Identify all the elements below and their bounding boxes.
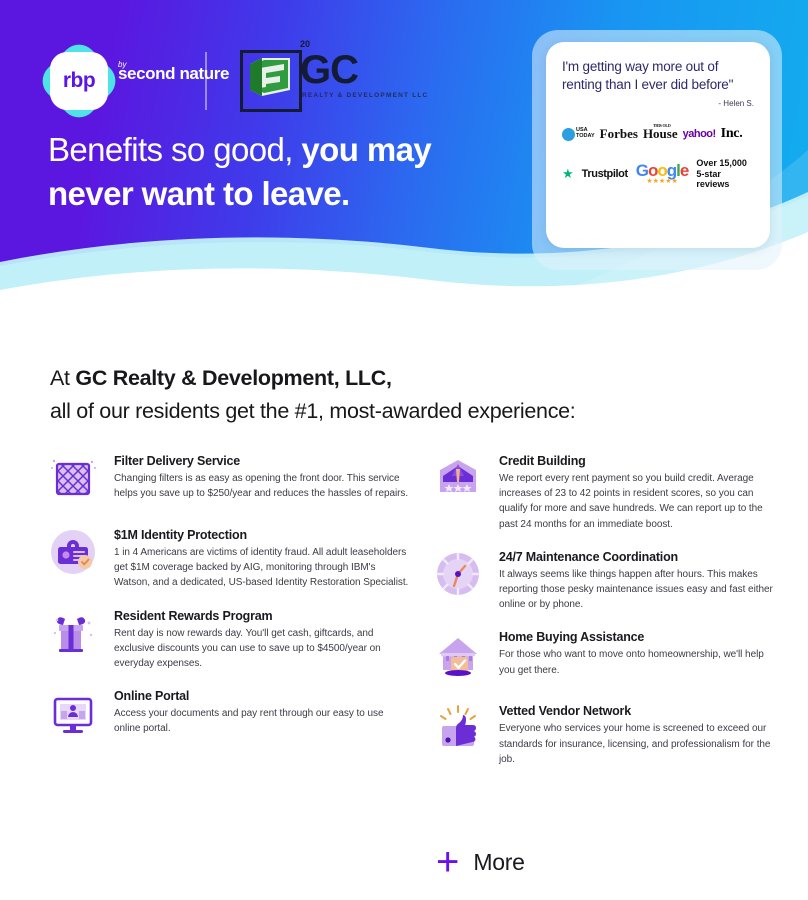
section-heading-line2: all of our residents get the #1, most-aw… <box>50 399 575 423</box>
benefit-description: Everyone who services your home is scree… <box>499 721 774 767</box>
benefit-title: 24/7 Maintenance Coordination <box>499 550 774 564</box>
benefit-item: Filter Delivery Service Changing filters… <box>44 452 409 510</box>
google-logo: Google ★★★★★ <box>636 162 689 185</box>
gc-logo-book-icon <box>248 56 292 98</box>
benefit-item: Credit Building We report every rent pay… <box>429 452 774 532</box>
benefit-icon-slot <box>44 526 102 584</box>
benefit-title: Filter Delivery Service <box>114 454 409 468</box>
benefit-icon-slot <box>44 687 102 745</box>
benefit-text: Vetted Vendor Network Everyone who servi… <box>499 702 774 767</box>
usa-today-logo: USA TODAY <box>576 128 595 140</box>
trustpilot-star-icon: ★ <box>562 166 574 182</box>
credit-badge-arrow-icon <box>432 452 484 504</box>
this-old-house-superscript: THIS OLD <box>653 123 671 128</box>
forbes-logo: Forbes <box>600 126 638 142</box>
benefit-item: $1M Identity Protection 1 in 4 Americans… <box>44 526 409 591</box>
benefit-item: 24/7 Maintenance Coordination It always … <box>429 548 774 613</box>
benefit-description: Changing filters is as easy as opening t… <box>114 471 409 501</box>
testimonial-quote: I'm getting way more out of renting than… <box>562 58 754 94</box>
headline-bold-part-2: never want to leave. <box>48 175 350 212</box>
benefit-text: 24/7 Maintenance Coordination It always … <box>499 548 774 613</box>
benefit-description: We report every rent payment so you buil… <box>499 471 774 532</box>
testimonial-author: - Helen S. <box>562 99 754 108</box>
benefit-item: Resident Rewards Program Rent day is now… <box>44 607 409 672</box>
benefit-title: $1M Identity Protection <box>114 528 409 542</box>
review-count: Over 15,000 5-star reviews <box>696 158 754 189</box>
gc-realty-logo: 20 GC REALTY & DEVELOPMENT LLC <box>240 42 440 114</box>
clock-icon <box>432 548 484 600</box>
benefit-icon-slot <box>429 548 487 606</box>
review-count-line2: 5-star reviews <box>696 169 754 190</box>
plus-icon: + <box>436 842 459 882</box>
benefit-text: Resident Rewards Program Rent day is now… <box>114 607 409 672</box>
headline-bold-part-1: you may <box>301 131 431 168</box>
gc-logo-subtitle: REALTY & DEVELOPMENT LLC <box>302 92 428 99</box>
benefits-column-right: Credit Building We report every rent pay… <box>409 452 774 783</box>
benefit-icon-slot <box>429 702 487 760</box>
more-label: More <box>473 849 524 876</box>
trustpilot-logo: Trustpilot <box>582 168 628 180</box>
online-portal-monitor-icon <box>47 687 99 739</box>
house-check-icon <box>432 628 484 680</box>
section-heading: At GC Realty & Development, LLC, all of … <box>50 362 750 429</box>
benefit-text: Credit Building We report every rent pay… <box>499 452 774 532</box>
benefit-description: It always seems like things happen after… <box>499 567 774 613</box>
review-count-line1: Over 15,000 <box>696 158 754 168</box>
review-logo-row: ★ Trustpilot Google ★★★★★ Over 15,000 5-… <box>562 158 754 189</box>
benefit-item: Home Buying Assistance For those who wan… <box>429 628 774 686</box>
gc-logo-letters: GC <box>300 50 358 90</box>
benefit-text: Online Portal Access your documents and … <box>114 687 409 745</box>
more-benefits-row[interactable]: + More <box>436 842 525 882</box>
benefits-columns: Filter Delivery Service Changing filters… <box>44 452 774 783</box>
benefits-column-left: Filter Delivery Service Changing filters… <box>44 452 409 783</box>
benefit-description: Rent day is now rewards day. You'll get … <box>114 626 409 672</box>
headline-regular-part: Benefits so good, <box>48 131 301 168</box>
second-nature-wordmark: second nature <box>118 66 229 83</box>
id-badge-lock-icon <box>47 526 99 578</box>
hero-headline: Benefits so good, you may never want to … <box>48 128 538 215</box>
this-old-house-logo: THIS OLD House <box>643 126 678 142</box>
benefit-item: Online Portal Access your documents and … <box>44 687 409 745</box>
benefit-description: For those who want to move onto homeowne… <box>499 647 774 677</box>
benefit-title: Online Portal <box>114 689 409 703</box>
this-old-house-word: House <box>643 126 678 141</box>
benefit-title: Vetted Vendor Network <box>499 704 774 718</box>
benefit-title: Home Buying Assistance <box>499 630 774 644</box>
benefit-item: Vetted Vendor Network Everyone who servi… <box>429 702 774 767</box>
inc-logo: Inc. <box>721 126 743 142</box>
usa-today-icon <box>562 128 575 141</box>
benefit-icon-slot <box>44 607 102 665</box>
benefit-description: 1 in 4 Americans are victims of identity… <box>114 545 409 591</box>
rbp-logo: rbp <box>48 50 110 112</box>
google-wordmark: Google <box>636 162 689 179</box>
benefit-title: Credit Building <box>499 454 774 468</box>
testimonial-card: I'm getting way more out of renting than… <box>546 42 770 248</box>
benefit-title: Resident Rewards Program <box>114 609 409 623</box>
air-filter-icon <box>47 452 99 504</box>
yahoo-logo: yahoo! <box>683 128 716 140</box>
benefit-icon-slot <box>429 628 487 686</box>
benefit-text: Home Buying Assistance For those who wan… <box>499 628 774 686</box>
benefit-icon-slot <box>44 452 102 510</box>
benefit-text: $1M Identity Protection 1 in 4 Americans… <box>114 526 409 591</box>
press-logo-row: USA TODAY Forbes THIS OLD House yahoo! I… <box>562 126 754 142</box>
benefits-flyer-page: rbp by second nature 20 GC REALTY & DEVE… <box>0 0 808 900</box>
benefit-description: Access your documents and pay rent throu… <box>114 706 409 736</box>
usa-today-line2: TODAY <box>576 134 595 140</box>
benefit-icon-slot <box>429 452 487 510</box>
benefit-text: Filter Delivery Service Changing filters… <box>114 452 409 510</box>
thumbs-up-icon <box>432 702 484 754</box>
section-heading-company: GC Realty & Development, LLC, <box>75 366 391 390</box>
gift-box-icon <box>47 607 99 659</box>
rbp-logo-wordmark: rbp <box>48 50 110 112</box>
logo-divider <box>205 52 207 110</box>
section-heading-prefix: At <box>50 366 75 390</box>
